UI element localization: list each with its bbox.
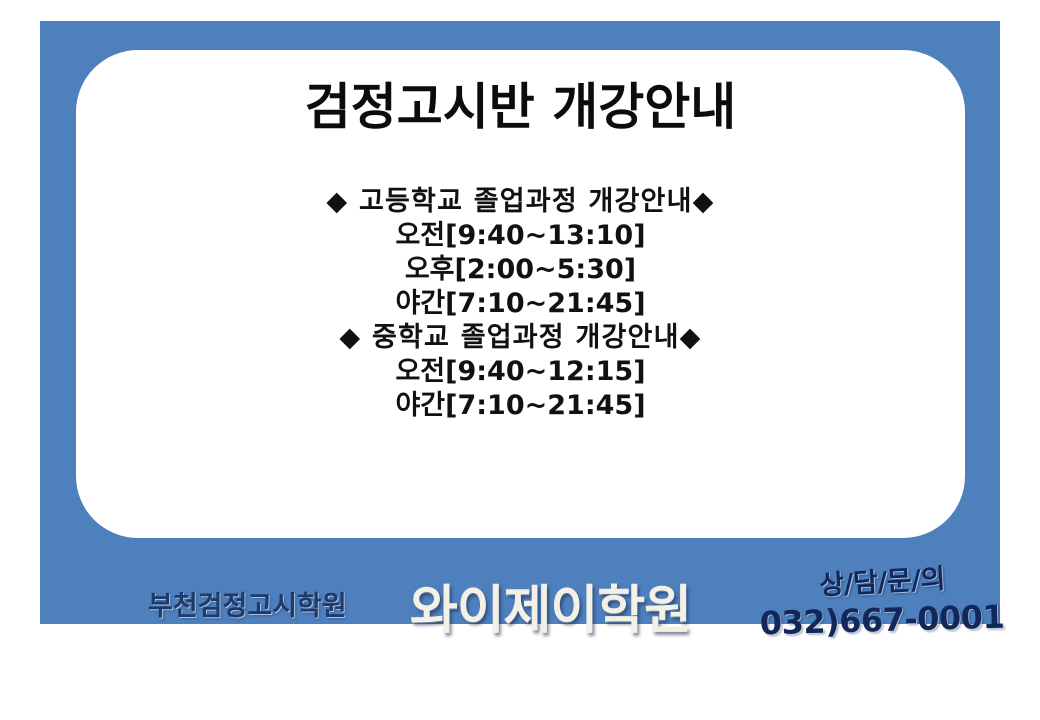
schedule-section-heading: ◆ 중학교 졸업과정 개강안내◆	[76, 321, 965, 355]
branding-strip: 부천검정고시학원 와이제이학원 상/담/문/의 032)667-0001	[80, 556, 1040, 645]
schedule-time-row: 오후[2:00~5:30]	[76, 253, 965, 287]
schedule-list: ◆ 고등학교 졸업과정 개강안내◆오전[9:40~13:10]오후[2:00~5…	[76, 185, 965, 423]
schedule-time-row: 오전[9:40~13:10]	[76, 219, 965, 253]
schedule-time-row: 오전[9:40~12:15]	[76, 355, 965, 389]
schedule-time-row: 야간[7:10~21:45]	[76, 389, 965, 423]
contact-block: 상/담/문/의 032)667-0001	[752, 560, 1012, 639]
academy-subtitle: 부천검정고시학원	[148, 584, 347, 623]
contact-phone-number[interactable]: 032)667-0001	[752, 597, 1013, 642]
schedule-section-heading: ◆ 고등학교 졸업과정 개강안내◆	[76, 185, 965, 219]
page-title: 검정고시반 개강안내	[76, 80, 965, 135]
schedule-time-row: 야간[7:10~21:45]	[76, 287, 965, 321]
poster-white-card: 검정고시반 개강안내 ◆ 고등학교 졸업과정 개강안내◆오전[9:40~13:1…	[76, 50, 965, 538]
poster-blue-panel: 검정고시반 개강안내 ◆ 고등학교 졸업과정 개강안내◆오전[9:40~13:1…	[40, 21, 1000, 624]
academy-name: 와이제이학원	[410, 568, 691, 643]
